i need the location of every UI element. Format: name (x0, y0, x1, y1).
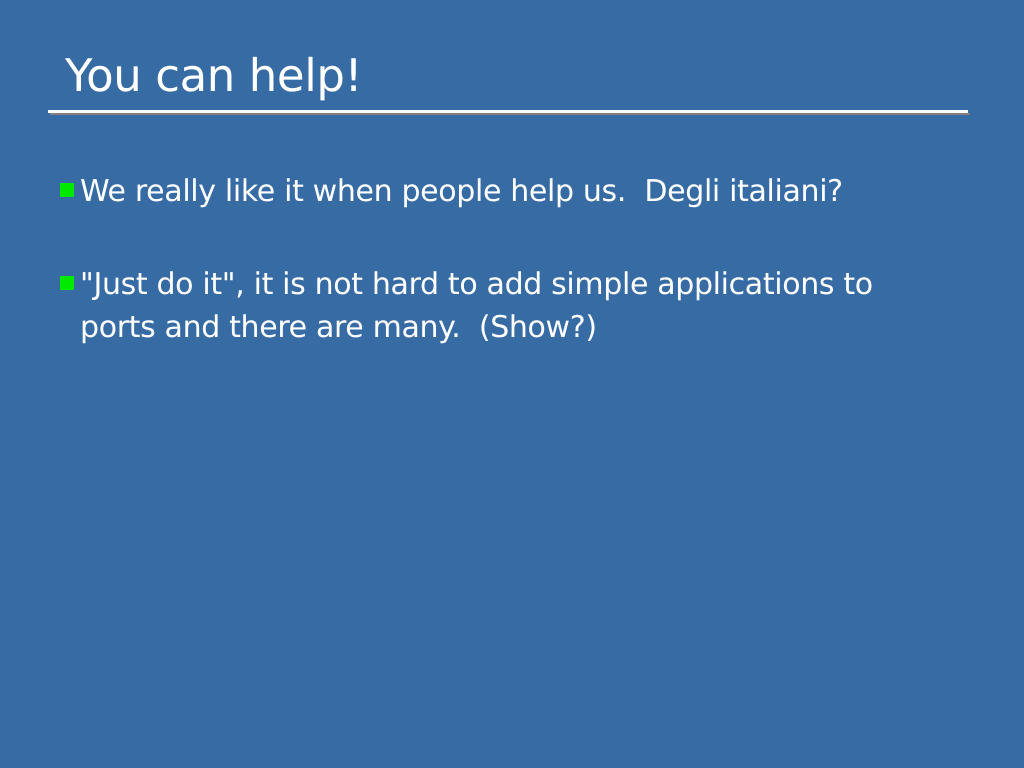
square-bullet-icon (60, 276, 74, 290)
list-item-text: We really like it when people help us. D… (80, 170, 900, 213)
square-bullet-icon (60, 183, 74, 197)
slide-canvas: You can help! We really like it when peo… (0, 0, 1024, 768)
page-title: You can help! (48, 48, 970, 104)
title-block: You can help! (48, 48, 970, 115)
list-item-text: "Just do it", it is not hard to add simp… (80, 263, 900, 349)
bullet-list: We really like it when people help us. D… (60, 170, 960, 349)
title-divider (48, 110, 968, 115)
list-item: We really like it when people help us. D… (60, 170, 960, 213)
list-item: "Just do it", it is not hard to add simp… (60, 263, 960, 349)
title-divider-shadow (50, 113, 970, 115)
